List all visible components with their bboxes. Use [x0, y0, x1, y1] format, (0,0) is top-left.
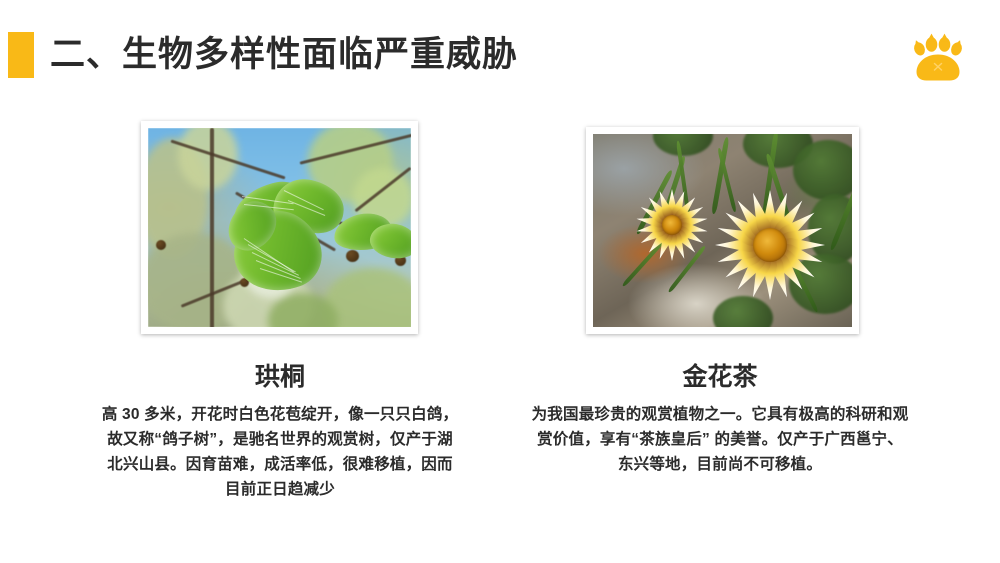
gazania-flower-large: [711, 186, 829, 304]
page-title: 二、生物多样性面临严重威胁: [50, 31, 518, 79]
plant-description-dove-tree: 高 30 多米，开花时白色花苞绽开，像一只只白鸽，故又称“鸽子树”，是驰名世界的…: [100, 402, 460, 502]
dove-tree-caption: 珙桐 高 30 多米，开花时白色花苞绽开，像一只只白鸽，故又称“鸽子树”，是驰名…: [100, 360, 460, 502]
paw-print-icon: [908, 30, 968, 85]
golden-camellia-caption: 金花茶 为我国最珍贵的观赏植物之一。它具有极高的科研和观赏价值，享有“茶族皇后”…: [530, 360, 910, 477]
dove-tree-photo-card[interactable]: [141, 121, 418, 334]
gazania-flower-small: [633, 186, 711, 264]
slide-canvas: 二、生物多样性面临严重威胁: [0, 0, 1000, 563]
dove-tree-leaves-photo: [148, 128, 411, 327]
yellow-square-bullet: [8, 32, 34, 78]
golden-camellia-flowers-photo: [593, 134, 852, 327]
plant-name-dove-tree: 珙桐: [100, 360, 460, 394]
plant-name-golden-camellia: 金花茶: [530, 360, 910, 394]
slide-header: 二、生物多样性面临严重威胁: [0, 0, 1000, 110]
plant-description-golden-camellia: 为我国最珍贵的观赏植物之一。它具有极高的科研和观赏价值，享有“茶族皇后” 的美誉…: [530, 402, 910, 477]
golden-camellia-photo-card[interactable]: [586, 127, 859, 334]
